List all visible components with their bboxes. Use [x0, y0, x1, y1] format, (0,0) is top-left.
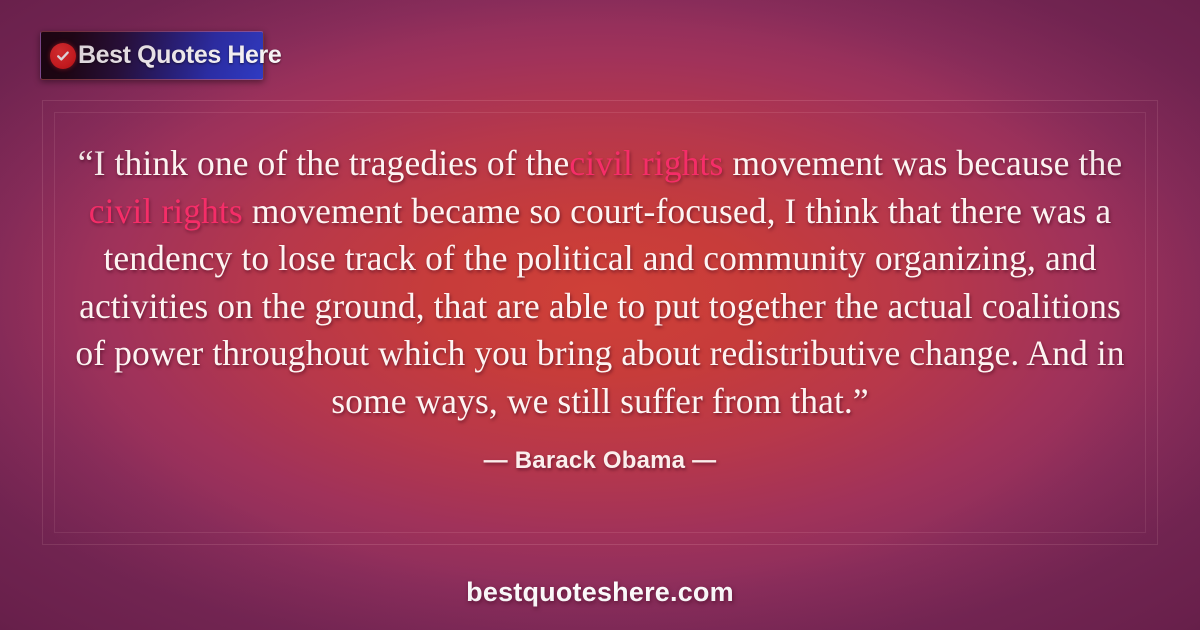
quote-segment-2: movement was because the [723, 143, 1122, 183]
site-logo-badge[interactable]: Best Quotes Here [40, 31, 264, 80]
quote-attribution: — Barack Obama — [70, 447, 1130, 475]
quote-text: “I think one of the tragedies of thecivi… [70, 140, 1130, 425]
quote-highlight-3: civil rights [89, 191, 243, 231]
quote-segment-0: “I think one of the tragedies of the [78, 143, 570, 183]
quote-highlight-1: civil rights [569, 143, 723, 183]
footer-website-url[interactable]: bestquoteshere.com [0, 577, 1200, 608]
quote-block: “I think one of the tragedies of thecivi… [70, 140, 1130, 475]
check-circle-icon [50, 43, 76, 69]
quote-poster: Best Quotes Here “I think one of the tra… [0, 0, 1200, 630]
site-logo-text: Best Quotes Here [78, 41, 281, 70]
